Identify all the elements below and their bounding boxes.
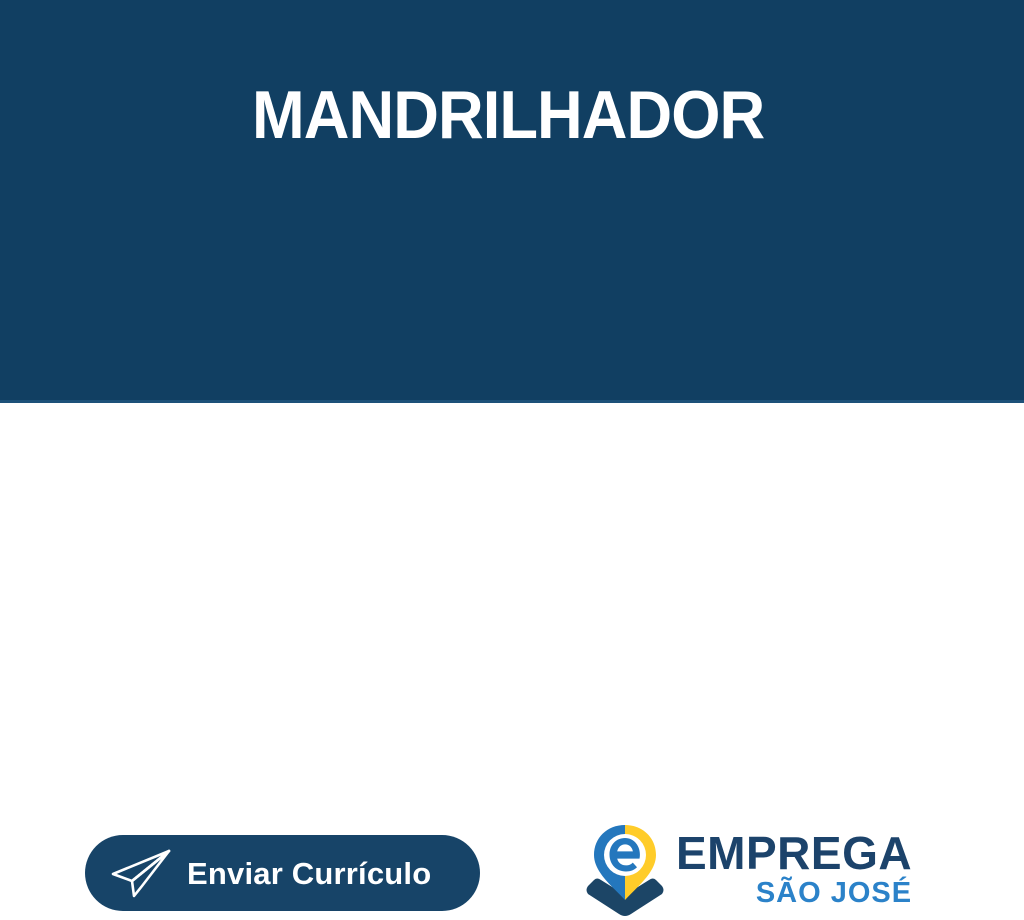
job-posting-card: MANDRILHADOR Enviar Currículo (0, 0, 1024, 536)
send-resume-button[interactable]: Enviar Currículo (85, 835, 480, 911)
page-title: MANDRILHADOR (252, 78, 764, 152)
brand-name-secondary: SÃO JOSÉ (756, 877, 912, 909)
footer-bar: Enviar Currículo EMPREGA (0, 406, 1024, 536)
send-resume-label: Enviar Currículo (187, 858, 431, 889)
map-pin-e-icon (586, 824, 664, 916)
brand-logo-text: EMPREGA SÃO JOSÉ (676, 824, 912, 909)
paper-plane-icon (107, 847, 187, 899)
brand-logo[interactable]: EMPREGA SÃO JOSÉ (586, 824, 926, 920)
hero-banner: MANDRILHADOR (0, 0, 1024, 403)
brand-name-primary: EMPREGA (676, 831, 912, 875)
